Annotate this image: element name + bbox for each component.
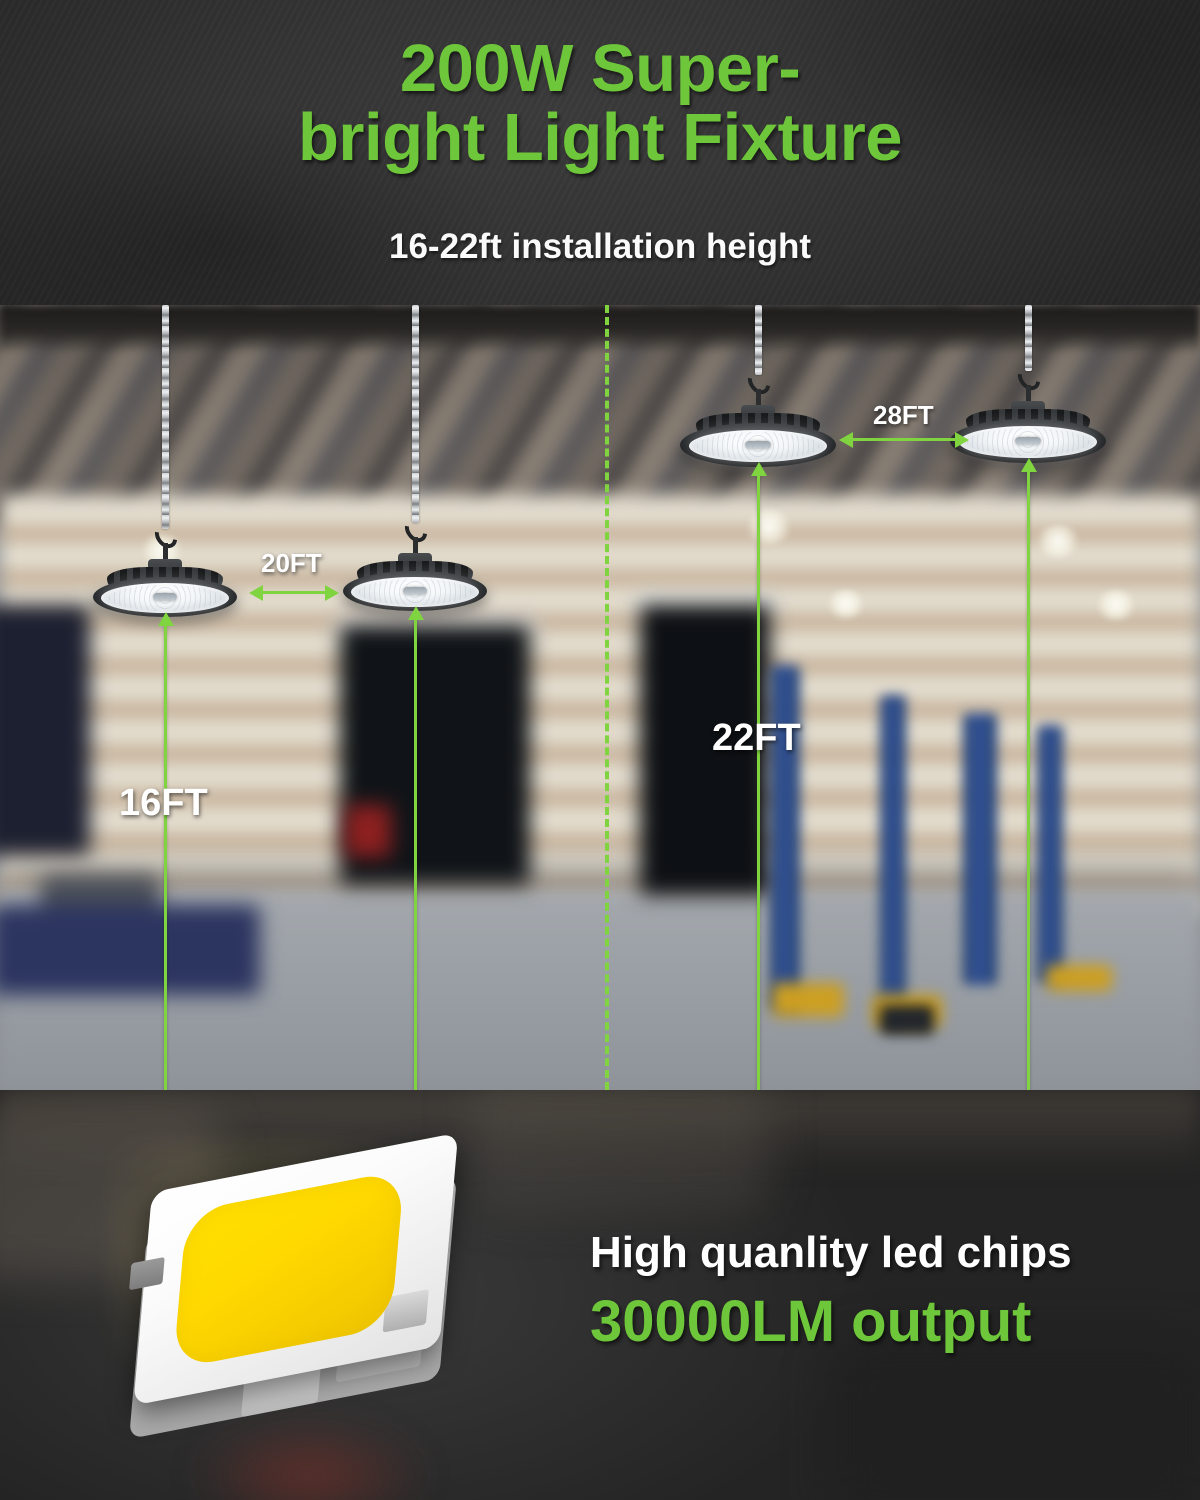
lens-center-chip bbox=[403, 587, 427, 595]
ceiling-lamp-glow-2 bbox=[1035, 525, 1081, 557]
header-banner: 200W Super- bright Light Fixture 16-22ft… bbox=[0, 0, 1200, 305]
lift-post-3 bbox=[963, 713, 997, 985]
hanging-chain bbox=[412, 305, 419, 523]
height-arrow-right-1 bbox=[757, 475, 760, 1090]
hanging-chain bbox=[1025, 305, 1032, 371]
bottom-blur-blob-3 bbox=[830, 1340, 1200, 1500]
lens-center-chip bbox=[745, 441, 771, 449]
page-subtitle: 16-22ft installation height bbox=[0, 227, 1200, 267]
fixture-lens bbox=[351, 577, 479, 607]
ceiling-lamp-glow-3 bbox=[1095, 590, 1137, 620]
ceiling-top-shadow bbox=[0, 305, 1200, 351]
spacing-label-right: 28FT bbox=[873, 400, 934, 431]
height-arrow-left-2 bbox=[414, 619, 417, 1090]
ceiling-lamp-glow-4 bbox=[826, 590, 866, 618]
left-wall-panel bbox=[0, 605, 90, 855]
lift-base-1 bbox=[772, 983, 844, 1017]
lumen-output-headline: 30000LM output bbox=[590, 1287, 1072, 1357]
height-arrow-right-2 bbox=[1027, 471, 1030, 1090]
title-line-1: 200W Super- bbox=[400, 31, 800, 106]
hanging-chain bbox=[162, 305, 169, 529]
spacing-arrow-right bbox=[852, 438, 956, 441]
fixture-lens bbox=[689, 430, 827, 462]
lift-post-4 bbox=[1037, 725, 1063, 983]
red-object bbox=[345, 805, 391, 857]
fixture-lens bbox=[101, 583, 229, 613]
spacing-arrow-left bbox=[262, 591, 326, 594]
spacing-label-left: 20FT bbox=[261, 548, 322, 579]
warehouse-scene: 20FT 16FT Dia:42ft bbox=[0, 305, 1200, 1090]
ceiling-lamp-glow-1 bbox=[745, 510, 793, 544]
bottom-blur-blob-2 bbox=[470, 1090, 770, 1210]
lens-center-chip bbox=[1015, 437, 1041, 445]
product-infographic: 200W Super- bright Light Fixture 16-22ft… bbox=[0, 0, 1200, 1500]
lift-base-3 bbox=[1046, 965, 1112, 991]
lift-base-shadow bbox=[880, 1005, 934, 1035]
page-title: 200W Super- bright Light Fixture bbox=[0, 34, 1200, 172]
fixture-lens bbox=[959, 426, 1097, 458]
height-label-right: 22FT bbox=[712, 717, 801, 760]
title-line-2: bright Light Fixture bbox=[298, 100, 902, 175]
height-arrow-left-1 bbox=[164, 625, 167, 1090]
hanging-chain bbox=[755, 305, 762, 375]
blue-machine bbox=[0, 905, 260, 995]
height-label-left: 16FT bbox=[119, 782, 208, 825]
led-chips-headline: High quanlity led chips bbox=[590, 1228, 1072, 1279]
bottom-text-block: High quanlity led chips 30000LM output bbox=[590, 1228, 1072, 1356]
led-chip-image bbox=[118, 1148, 488, 1478]
lens-center-chip bbox=[153, 593, 177, 601]
lift-post-2 bbox=[880, 695, 906, 1025]
section-divider bbox=[605, 305, 609, 1090]
